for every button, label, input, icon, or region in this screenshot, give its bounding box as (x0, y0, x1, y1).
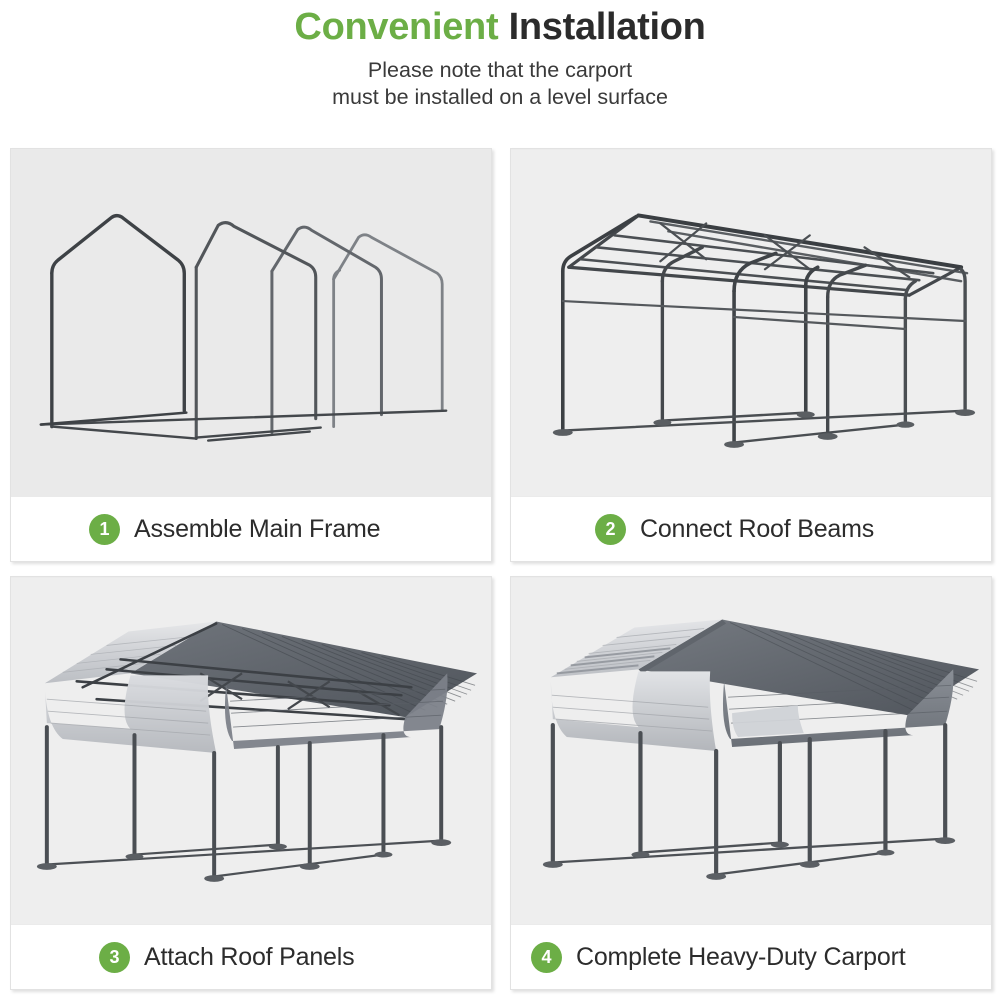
step-3-figure (11, 577, 491, 925)
steps-grid: 1 Assemble Main Frame (10, 148, 992, 990)
page-title: Convenient Installation (0, 4, 1000, 50)
step-1-caption: 1 Assemble Main Frame (11, 497, 491, 561)
carport-completed-illustration (511, 577, 991, 925)
page-title-accent: Convenient (294, 6, 498, 48)
step-4-label: Complete Heavy-Duty Carport (576, 943, 905, 972)
step-3-badge: 3 (99, 942, 130, 973)
page-title-rest: Installation (498, 6, 705, 48)
step-card-1[interactable]: 1 Assemble Main Frame (10, 148, 492, 562)
subtitle: Please note that the carport must be ins… (0, 57, 1000, 111)
carport-frame-with-roof-beams-illustration (511, 149, 991, 497)
instruction-graphic: Convenient Installation Please note that… (0, 0, 1000, 1000)
header: Convenient Installation Please note that… (0, 0, 1000, 111)
step-card-4[interactable]: 4 Complete Heavy-Duty Carport (510, 576, 992, 990)
step-1-label: Assemble Main Frame (134, 515, 380, 544)
subtitle-line-1: Please note that the carport (0, 57, 1000, 84)
step-2-badge: 2 (595, 514, 626, 545)
subtitle-line-2: must be installed on a level surface (0, 84, 1000, 111)
step-3-label: Attach Roof Panels (144, 943, 354, 972)
step-2-caption: 2 Connect Roof Beams (511, 497, 991, 561)
step-4-caption: 4 Complete Heavy-Duty Carport (511, 925, 991, 989)
carport-bare-arch-frames-illustration (11, 149, 491, 497)
step-4-figure (511, 577, 991, 925)
step-1-figure (11, 149, 491, 497)
step-card-3[interactable]: 3 Attach Roof Panels (10, 576, 492, 990)
carport-partial-roof-panels-illustration (11, 577, 491, 925)
step-3-caption: 3 Attach Roof Panels (11, 925, 491, 989)
step-4-badge: 4 (531, 942, 562, 973)
step-1-badge: 1 (89, 514, 120, 545)
step-2-label: Connect Roof Beams (640, 515, 874, 544)
step-2-figure (511, 149, 991, 497)
step-card-2[interactable]: 2 Connect Roof Beams (510, 148, 992, 562)
